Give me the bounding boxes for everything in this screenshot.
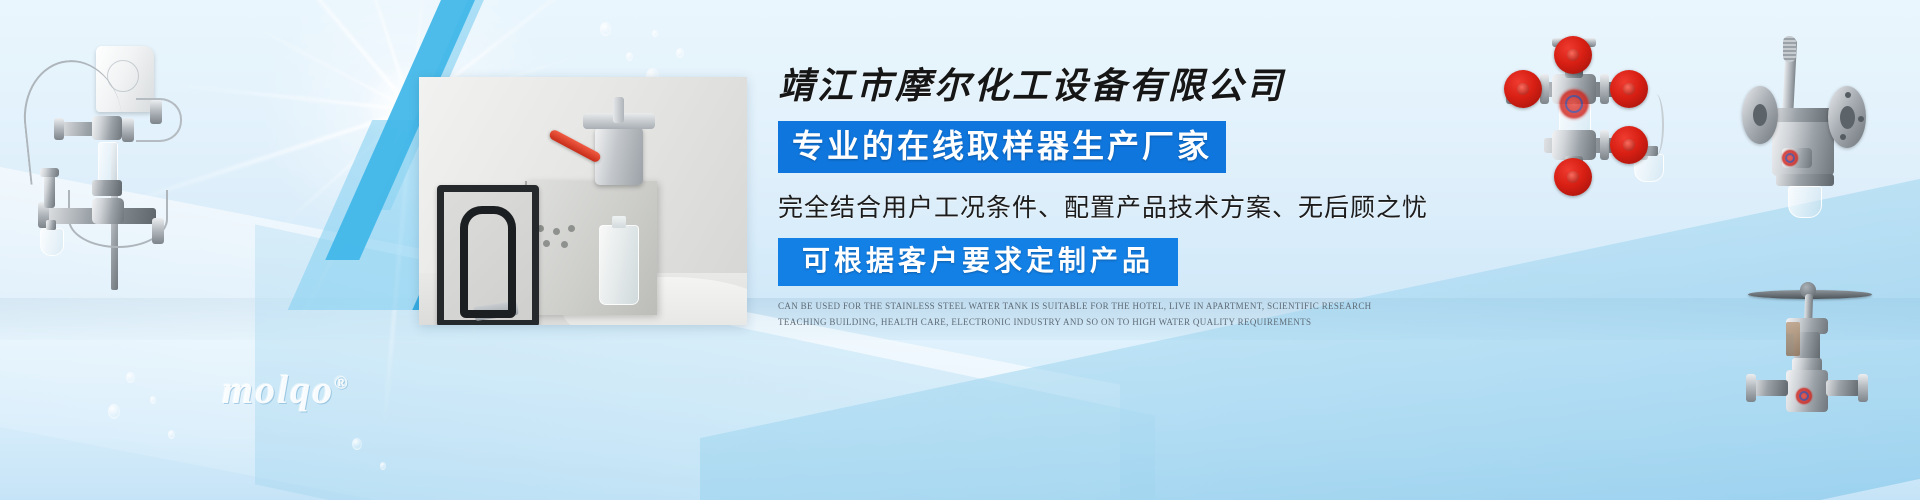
watermark-logo: molqo® — [222, 366, 350, 413]
water-droplet — [676, 48, 684, 58]
water-droplet — [126, 372, 135, 383]
custom-product-badge: 可根据客户要求定制产品 — [778, 238, 1178, 286]
promo-banner: 靖江市摩尔化工设备有限公司 专业的在线取样器生产厂家 完全结合用户工况条件、配置… — [0, 0, 1920, 500]
valve-handwheel — [1610, 126, 1648, 164]
handwheel-gate-valve-render — [1742, 234, 1920, 414]
certification-seal-icon — [1556, 86, 1592, 122]
certification-seal-icon — [1780, 148, 1800, 168]
water-droplet — [652, 30, 658, 37]
background-band-bottom — [0, 340, 1920, 500]
subline-text: 完全结合用户工况条件、配置产品技术方案、无后顾之忧 — [778, 188, 1418, 224]
company-name: 靖江市摩尔化工设备有限公司 — [778, 66, 1418, 107]
water-droplet — [600, 22, 611, 36]
sampler-cabinet-photo — [419, 77, 747, 325]
cross-manifold-valve-render — [1482, 28, 1708, 192]
watermark-registered-mark: ® — [334, 373, 349, 393]
water-droplet — [150, 396, 156, 404]
english-description: CAN BE USED FOR THE STAINLESS STEEL WATE… — [778, 299, 1386, 331]
water-droplet — [380, 462, 386, 470]
water-droplet — [168, 430, 175, 439]
water-droplet — [352, 438, 362, 450]
valve-handwheel — [1554, 36, 1592, 74]
water-droplet — [626, 52, 633, 61]
valve-handwheel — [1610, 70, 1648, 108]
banner-copy-block: 靖江市摩尔化工设备有限公司 专业的在线取样器生产厂家 完全结合用户工况条件、配置… — [778, 66, 1418, 331]
water-droplet — [108, 404, 120, 419]
watermark-text: molqo — [222, 367, 334, 412]
pole-mounted-sampler-render — [8, 22, 188, 288]
headline-badge: 专业的在线取样器生产厂家 — [778, 121, 1226, 173]
lever-sampling-valve-render — [1724, 24, 1920, 220]
valve-handwheel — [1504, 70, 1542, 108]
valve-handwheel — [1554, 158, 1592, 196]
certification-seal-icon — [1794, 386, 1814, 406]
